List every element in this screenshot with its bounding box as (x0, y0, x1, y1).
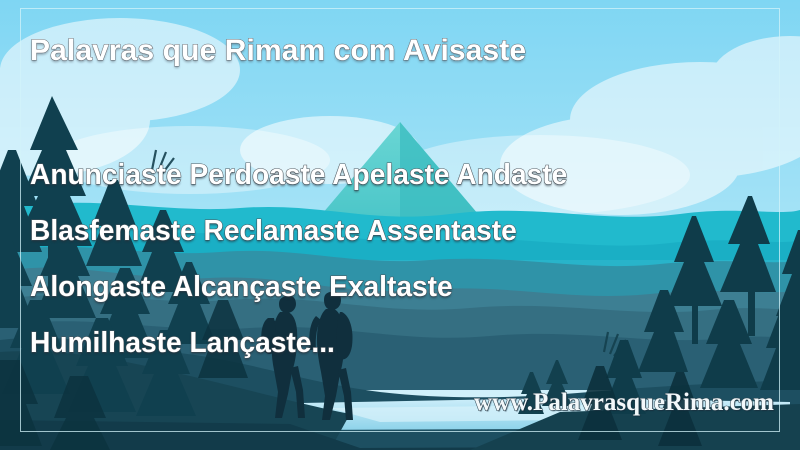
rhyme-line: Alongaste Alcançaste Exaltaste (30, 272, 758, 302)
rhyme-line: Anunciaste Perdoaste Apelaste Andaste (30, 160, 758, 190)
page-title: Palavras que Rimam com Avisaste (30, 34, 526, 68)
site-watermark: www.PalavrasqueRima.com (474, 389, 774, 417)
rhyme-word-list: Anunciaste Perdoaste Apelaste Andaste Bl… (30, 160, 780, 385)
rhyme-line: Humilhaste Lançaste... (30, 328, 758, 358)
rhyme-line: Blasfemaste Reclamaste Assentaste (30, 216, 758, 246)
rhyme-word-card: Palavras que Rimam com Avisaste Anuncias… (0, 0, 800, 450)
